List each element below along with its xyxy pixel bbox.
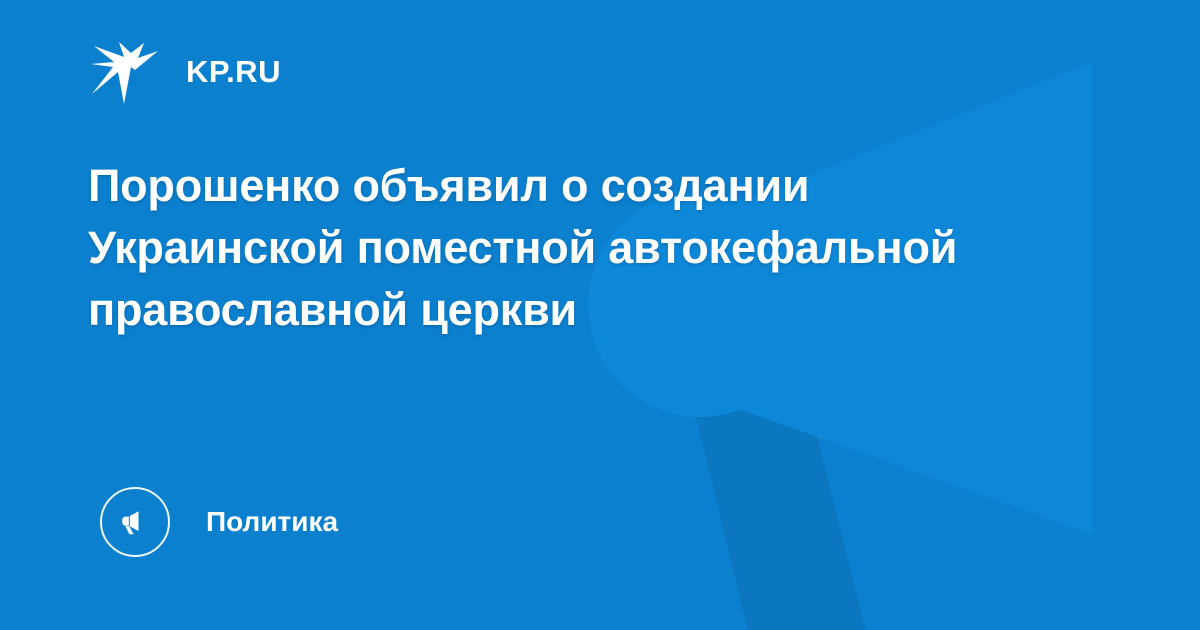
brand-name: KP.RU (186, 56, 281, 87)
category-tag[interactable]: Политика (100, 487, 338, 557)
page-title: Порошенко объявил о создании Украинской … (88, 155, 1048, 341)
brand-logo[interactable]: KP.RU (88, 30, 281, 112)
category-badge[interactable] (100, 487, 170, 557)
swallow-bird-logo-icon (88, 34, 162, 108)
category-label: Политика (206, 508, 338, 536)
megaphone-icon (117, 504, 153, 540)
social-share-card: KP.RU Порошенко объявил о создании Украи… (0, 0, 1200, 630)
